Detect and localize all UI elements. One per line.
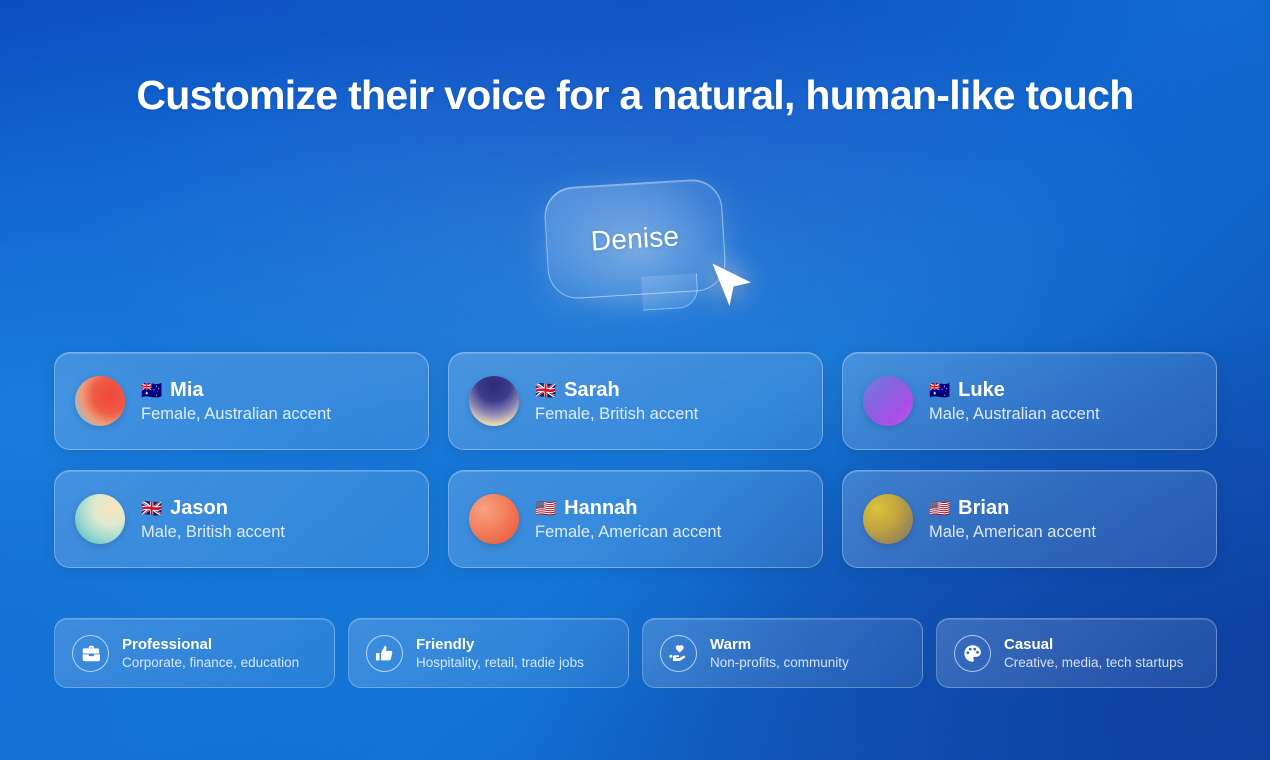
voice-card[interactable]: 🇦🇺LukeMale, Australian accent: [842, 352, 1217, 450]
voice-name: 🇺🇸Brian: [929, 497, 1096, 520]
tone-subtitle: Corporate, finance, education: [122, 655, 299, 670]
mouse-pointer-icon: [704, 257, 760, 313]
palette-icon: [954, 635, 991, 672]
avatar: [863, 494, 913, 544]
bubble-label: Denise: [543, 178, 728, 301]
voice-description: Female, British accent: [535, 405, 698, 424]
voice-description: Male, British accent: [141, 523, 285, 542]
voice-name: 🇬🇧Jason: [141, 497, 285, 520]
avatar: [75, 376, 125, 426]
voice-name: 🇦🇺Luke: [929, 379, 1100, 402]
tone-chip[interactable]: CasualCreative, media, tech startups: [936, 618, 1217, 688]
page-title: Customize their voice for a natural, hum…: [0, 72, 1270, 119]
voice-description: Female, Australian accent: [141, 405, 331, 424]
australia-flag-icon: 🇦🇺: [929, 382, 950, 399]
tone-title: Warm: [710, 636, 849, 653]
voice-name-label: Mia: [170, 379, 203, 402]
tone-title: Casual: [1004, 636, 1183, 653]
united-kingdom-flag-icon: 🇬🇧: [141, 500, 162, 517]
voice-card[interactable]: 🇦🇺MiaFemale, Australian accent: [54, 352, 429, 450]
avatar: [469, 494, 519, 544]
briefcase-icon: [72, 635, 109, 672]
avatar: [75, 494, 125, 544]
tone-subtitle: Non-profits, community: [710, 655, 849, 670]
voice-name: 🇺🇸Hannah: [535, 497, 721, 520]
avatar: [469, 376, 519, 426]
tone-chip-row: ProfessionalCorporate, finance, educatio…: [54, 618, 1217, 688]
voice-name-label: Brian: [958, 497, 1009, 520]
voice-card[interactable]: 🇺🇸HannahFemale, American accent: [448, 470, 823, 568]
tone-chip[interactable]: FriendlyHospitality, retail, tradie jobs: [348, 618, 629, 688]
voice-card[interactable]: 🇺🇸BrianMale, American accent: [842, 470, 1217, 568]
united-states-flag-icon: 🇺🇸: [535, 500, 556, 517]
voice-card[interactable]: 🇬🇧SarahFemale, British accent: [448, 352, 823, 450]
voice-card[interactable]: 🇬🇧JasonMale, British accent: [54, 470, 429, 568]
voice-name: 🇦🇺Mia: [141, 379, 331, 402]
voice-description: Male, Australian accent: [929, 405, 1100, 424]
hand-heart-icon: [660, 635, 697, 672]
voice-description: Female, American accent: [535, 523, 721, 542]
united-kingdom-flag-icon: 🇬🇧: [535, 382, 556, 399]
voice-name-bubble[interactable]: Denise: [546, 183, 724, 295]
voice-card-grid: 🇦🇺MiaFemale, Australian accent🇬🇧SarahFem…: [54, 352, 1217, 568]
voice-description: Male, American accent: [929, 523, 1096, 542]
tone-title: Friendly: [416, 636, 584, 653]
thumbs-up-icon: [366, 635, 403, 672]
tone-subtitle: Hospitality, retail, tradie jobs: [416, 655, 584, 670]
tone-title: Professional: [122, 636, 299, 653]
voice-name-label: Sarah: [564, 379, 620, 402]
tone-subtitle: Creative, media, tech startups: [1004, 655, 1183, 670]
voice-name-label: Luke: [958, 379, 1005, 402]
tone-chip[interactable]: WarmNon-profits, community: [642, 618, 923, 688]
united-states-flag-icon: 🇺🇸: [929, 500, 950, 517]
voice-name-label: Hannah: [564, 497, 637, 520]
avatar: [863, 376, 913, 426]
voice-name-label: Jason: [170, 497, 228, 520]
tone-chip[interactable]: ProfessionalCorporate, finance, educatio…: [54, 618, 335, 688]
voice-name: 🇬🇧Sarah: [535, 379, 698, 402]
australia-flag-icon: 🇦🇺: [141, 382, 162, 399]
